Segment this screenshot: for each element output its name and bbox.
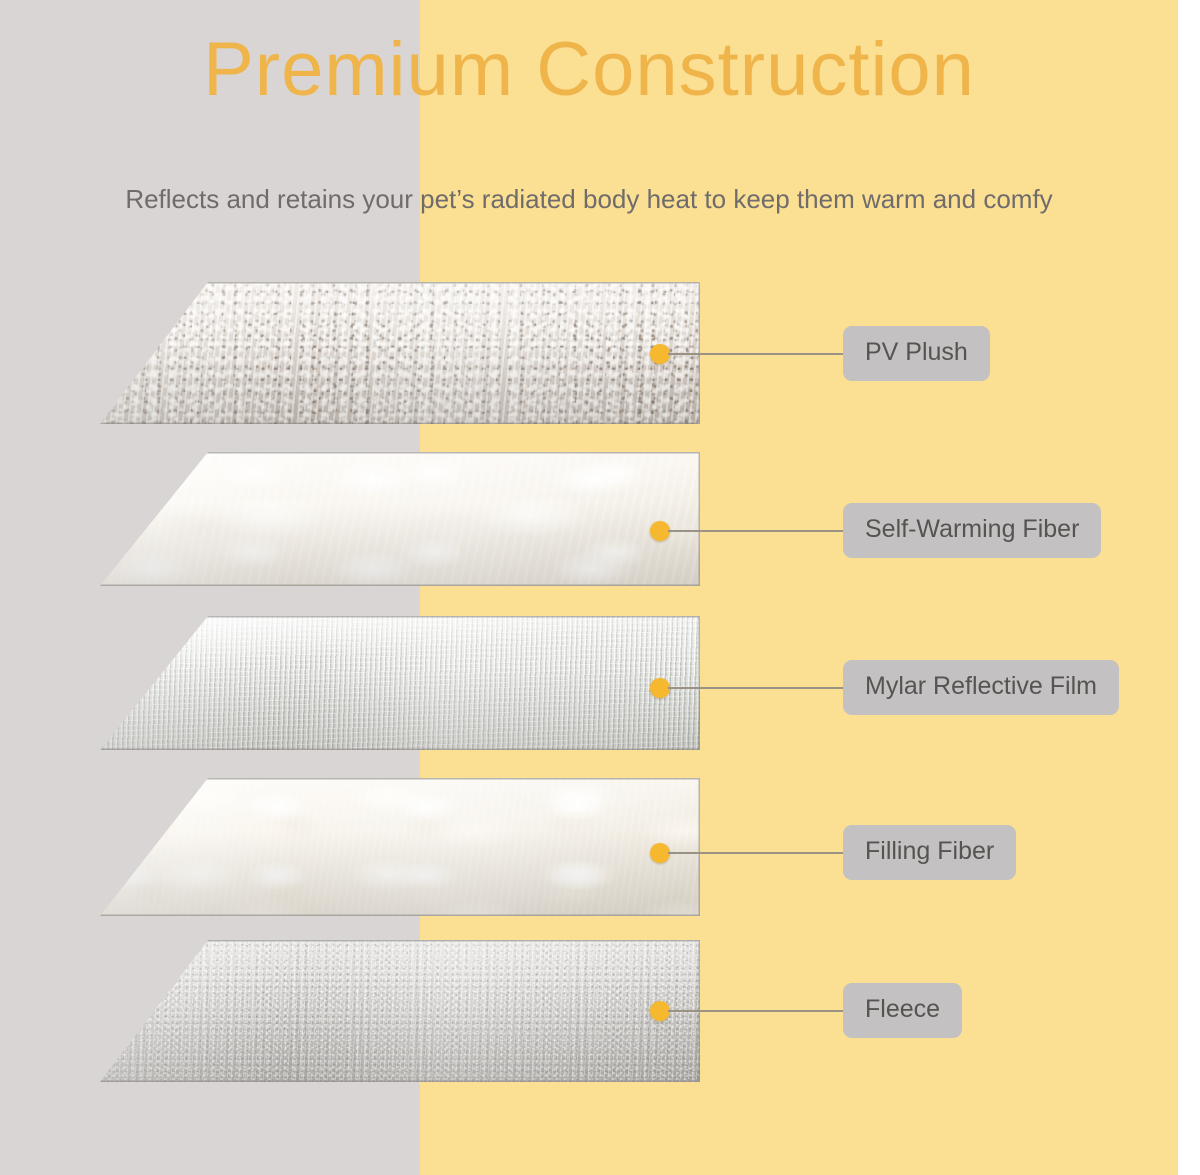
material-slab-self-warming-fiber bbox=[100, 452, 700, 586]
layer-stack-item bbox=[100, 452, 700, 586]
page-subtitle: Reflects and retains your pet’s radiated… bbox=[0, 184, 1178, 215]
callout-dot-filling-fiber[interactable] bbox=[650, 843, 670, 863]
slab-outline bbox=[100, 282, 700, 424]
slab-outline bbox=[100, 616, 700, 750]
layer-stack-item bbox=[100, 778, 700, 916]
material-slab-mylar-reflective-film bbox=[100, 616, 700, 750]
callout-label-self-warming-fiber[interactable]: Self-Warming Fiber bbox=[843, 503, 1101, 558]
callout-label-pv-plush[interactable]: PV Plush bbox=[843, 326, 990, 381]
slab-outline bbox=[100, 452, 700, 586]
callout-leader-pv-plush bbox=[668, 353, 846, 355]
callout-leader-self-warming-fiber bbox=[668, 530, 846, 532]
callout-label-fleece[interactable]: Fleece bbox=[843, 983, 962, 1038]
callout-dot-mylar-reflective-film[interactable] bbox=[650, 678, 670, 698]
callout-dot-fleece[interactable] bbox=[650, 1001, 670, 1021]
slab-outline bbox=[100, 778, 700, 916]
slab-outline bbox=[100, 940, 700, 1082]
layer-stack-item bbox=[100, 282, 700, 424]
callout-dot-pv-plush[interactable] bbox=[650, 344, 670, 364]
callout-leader-filling-fiber bbox=[668, 852, 846, 854]
callout-leader-mylar-reflective-film bbox=[668, 687, 846, 689]
background-right-white-edge bbox=[1178, 0, 1200, 1175]
callout-label-mylar-reflective-film[interactable]: Mylar Reflective Film bbox=[843, 660, 1119, 715]
material-slab-pv-plush bbox=[100, 282, 700, 424]
layer-stack-item bbox=[100, 940, 700, 1082]
premium-construction-infographic: Premium Construction Reflects and retain… bbox=[0, 0, 1200, 1175]
material-slab-fleece bbox=[100, 940, 700, 1082]
callout-dot-self-warming-fiber[interactable] bbox=[650, 521, 670, 541]
layer-stack-item bbox=[100, 616, 700, 750]
callout-leader-fleece bbox=[668, 1010, 846, 1012]
callout-label-filling-fiber[interactable]: Filling Fiber bbox=[843, 825, 1016, 880]
material-slab-filling-fiber bbox=[100, 778, 700, 916]
page-title: Premium Construction bbox=[0, 28, 1178, 112]
